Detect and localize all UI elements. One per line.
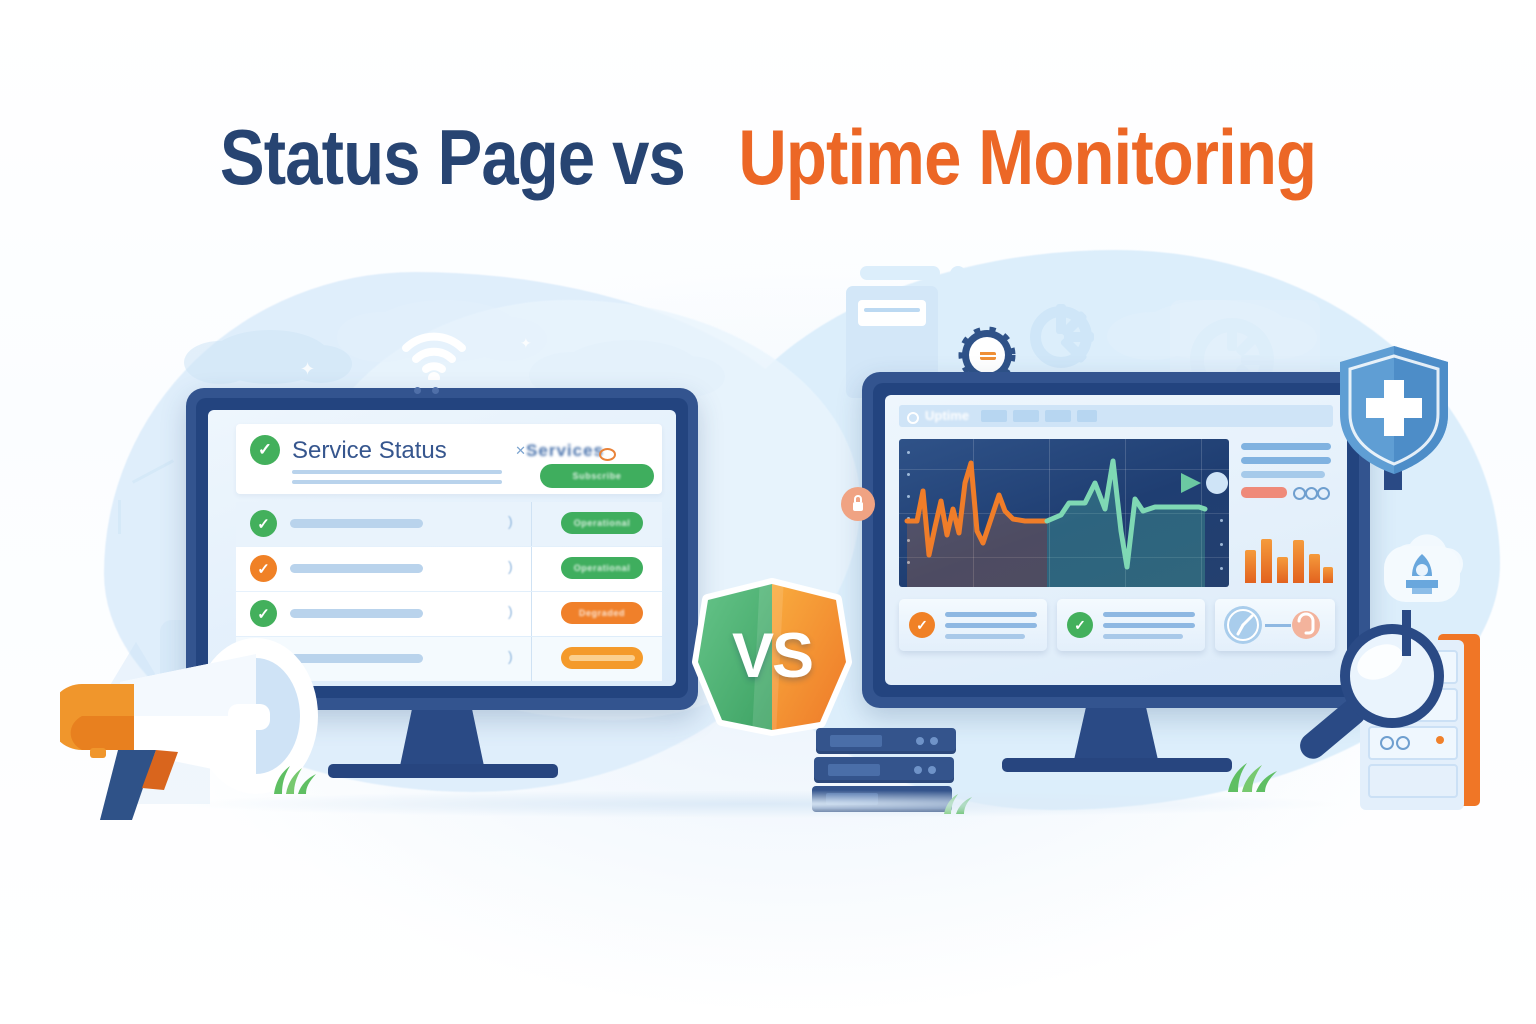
magnifier-icon [1288, 612, 1468, 782]
response-time-chart [899, 439, 1229, 587]
bar [1261, 539, 1272, 583]
placeholder-bar [945, 612, 1037, 617]
row-value: ) [508, 513, 513, 529]
document-decor-line [864, 308, 920, 312]
uptime-dashboard-screen: Uptime [885, 395, 1347, 685]
status-badge: Operational [561, 557, 643, 579]
row-value: ) [508, 558, 513, 574]
check-circle-icon: ✓ [250, 510, 277, 537]
toolbar-block [1077, 410, 1097, 422]
bar [1245, 550, 1256, 583]
placeholder-bar [945, 623, 1037, 628]
subscribe-badge-label: Subscribe [573, 471, 622, 481]
dashboard-sidebar [1239, 439, 1335, 587]
check-circle-icon: ✓ [1067, 612, 1093, 638]
table-row[interactable]: ✓ ) Operational [236, 547, 662, 591]
check-circle-icon: ✓ [250, 435, 280, 465]
vs-badge-label: VS [686, 576, 858, 736]
check-circle-icon: ✓ [250, 555, 277, 582]
server-led [928, 766, 936, 774]
status-badge-label: Operational [574, 563, 631, 573]
toolbar-title: Uptime [925, 408, 969, 423]
logo-x-mark: ✕ [515, 443, 526, 459]
status-badge: Degraded [561, 602, 643, 624]
decor-shape [118, 500, 121, 534]
check-circle-icon: ✓ [250, 600, 277, 627]
row-divider [531, 547, 532, 591]
placeholder-bar [292, 470, 502, 474]
table-row[interactable]: ✓ ) Operational [236, 502, 662, 546]
placeholder-bar [1103, 612, 1195, 617]
status-badge [561, 647, 643, 669]
check-circle-icon: ✓ [909, 612, 935, 638]
rocket-cloud-icon [1366, 528, 1478, 624]
camera-dot [432, 387, 439, 394]
page-title: Status Page vs Uptime Monitoring [108, 118, 1429, 196]
placeholder-bar [290, 519, 423, 528]
server-led [914, 766, 922, 774]
row-divider [531, 502, 532, 546]
placeholder-bar [1241, 457, 1331, 464]
illustration-canvas: ✦ ✦ ✦ ✦ ✓ Service Status [0, 0, 1536, 1024]
toolbar-block [1045, 410, 1071, 422]
bar [1309, 554, 1320, 583]
bar-chart [1239, 511, 1335, 583]
document-decor [950, 266, 966, 282]
gauge-icon [1221, 603, 1265, 647]
status-badge-label: Degraded [579, 608, 625, 618]
placeholder-bar [292, 480, 502, 484]
dashboard-toolbar: Uptime [899, 405, 1333, 427]
grass-decor [1222, 760, 1282, 792]
gear-icon [1030, 306, 1092, 368]
row-divider [531, 592, 532, 636]
chart-series-svg [899, 439, 1229, 587]
decor-sparkle: ✦ [520, 336, 532, 350]
status-badge-label: Operational [574, 518, 631, 528]
camera-dot [414, 387, 421, 394]
monitor-base [328, 764, 558, 778]
status-card[interactable]: ✓ [1057, 599, 1205, 651]
placeholder-bar [290, 564, 423, 573]
badge-progress [569, 655, 635, 661]
wifi-icon [398, 326, 470, 380]
shield-cross-icon [1324, 340, 1464, 490]
status-page-title: Service Status [292, 437, 447, 465]
row-value: ) [508, 603, 513, 619]
badge-stem [1402, 610, 1411, 656]
server-led [930, 737, 938, 745]
toolbar-block [1013, 410, 1039, 422]
server-led [916, 737, 924, 745]
decor-sparkle: ✦ [300, 360, 315, 378]
logo-dot [599, 448, 616, 461]
subscribe-badge[interactable]: Subscribe [540, 464, 654, 488]
row-value: ) [508, 648, 513, 664]
page-title-part-two: Uptime Monitoring [738, 113, 1316, 201]
monitor-neck [400, 710, 484, 766]
placeholder-bar [290, 609, 423, 618]
service-logo-text: Services [526, 441, 604, 461]
monitor-base [1002, 758, 1232, 772]
bar [1293, 540, 1304, 583]
document-decor-line [858, 300, 926, 326]
server-slot [830, 735, 882, 747]
status-card[interactable]: ✓ [899, 599, 1047, 651]
ground-shadow [180, 790, 1340, 818]
monitor-neck [1074, 708, 1158, 760]
placeholder-bar [1103, 623, 1195, 628]
status-header-card: ✓ Service Status Services ✕ Subscribe [236, 424, 662, 494]
bar [1323, 567, 1333, 583]
bar [1277, 557, 1288, 583]
server-slot [828, 764, 880, 776]
placeholder-bar [1241, 471, 1325, 478]
placeholder-bar [1241, 443, 1331, 450]
status-badge: Operational [561, 512, 643, 534]
page-title-part-one: Status Page vs [220, 113, 685, 201]
row-divider [531, 637, 532, 681]
alert-bar [1241, 487, 1287, 498]
toolbar-block [981, 410, 1007, 422]
document-decor [860, 266, 940, 280]
placeholder-bar [1103, 634, 1183, 639]
lock-icon [840, 486, 876, 522]
vs-badge: VS [686, 576, 858, 736]
placeholder-bar [945, 634, 1025, 639]
toolbar-dot [907, 412, 919, 424]
